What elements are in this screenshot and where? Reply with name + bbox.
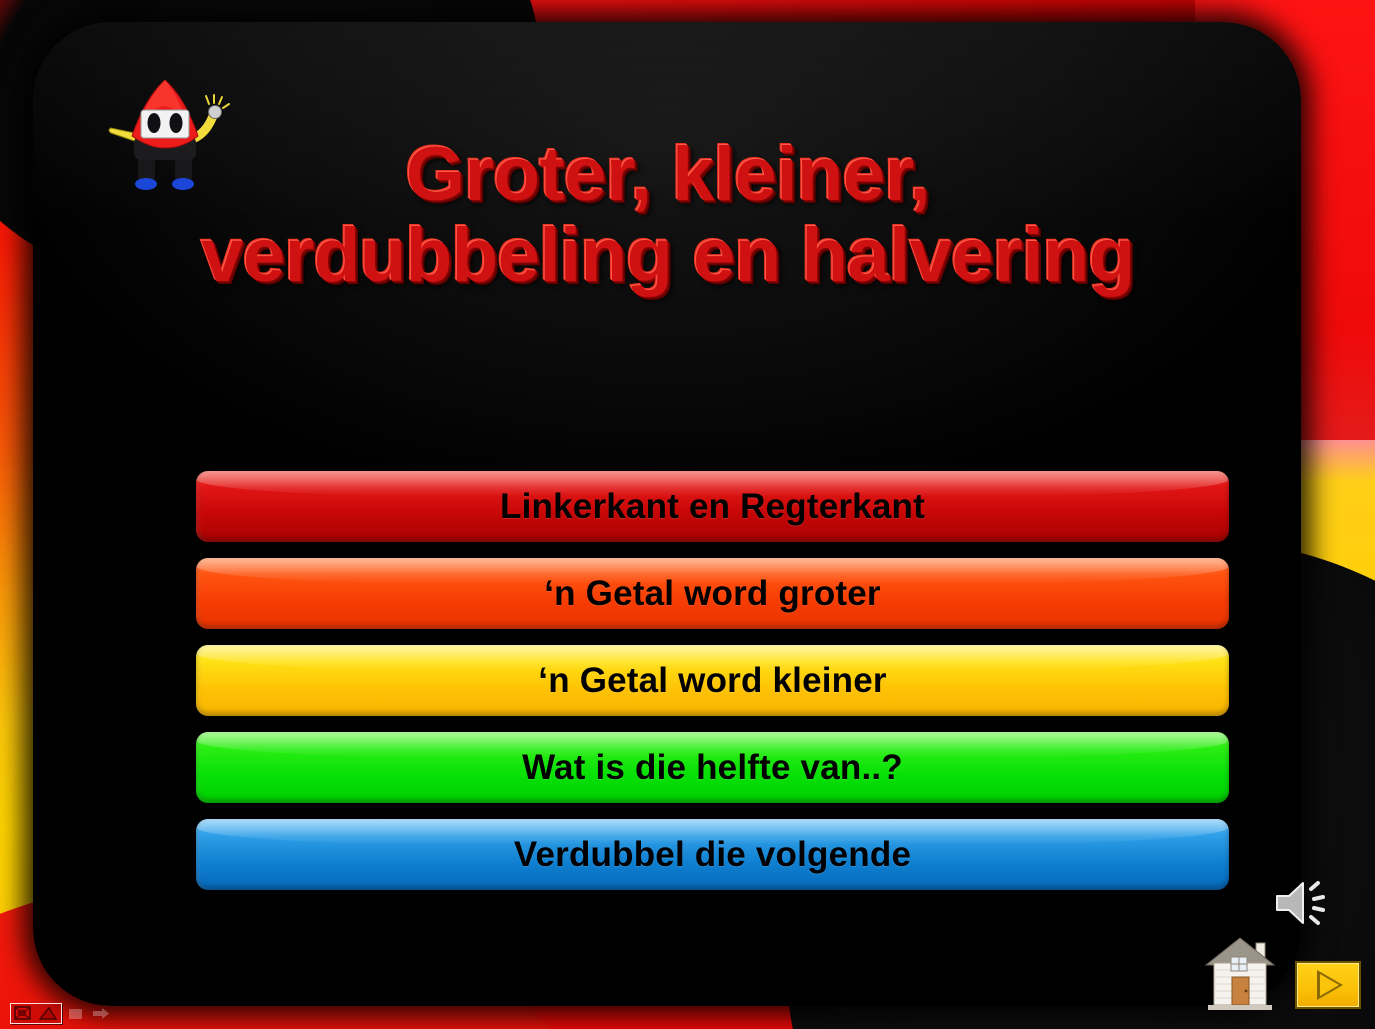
slide-root: Groter, kleiner, verdubbeling en halveri… (0, 0, 1375, 1029)
menu-button-label: Verdubbel die volgende (514, 835, 911, 875)
next-arrow-icon[interactable] (90, 1005, 112, 1022)
pen-annotation-icon[interactable] (37, 1005, 59, 1022)
menu-button-n-getal-word-groter[interactable]: ‘n Getal word groter (196, 558, 1229, 629)
page-title: Groter, kleiner, verdubbeling en halveri… (93, 134, 1243, 297)
house-icon[interactable] (1200, 929, 1280, 1011)
slideshow-view-icon[interactable] (13, 1005, 35, 1022)
menu-button-label: ‘n Getal word kleiner (538, 661, 886, 701)
menu-button-wat-is-die-helfte-van[interactable]: Wat is die helfte van..? (196, 732, 1229, 803)
menu-list: Linkerkant en Regterkant ‘n Getal word g… (196, 471, 1229, 906)
content-panel: Groter, kleiner, verdubbeling en halveri… (33, 22, 1301, 1006)
menu-button-linkerkant-en-regterkant[interactable]: Linkerkant en Regterkant (196, 471, 1229, 542)
menu-button-label: Wat is die helfte van..? (522, 748, 903, 788)
presentation-nav-group[interactable] (10, 1003, 62, 1024)
menu-button-label: ‘n Getal word groter (544, 574, 881, 614)
presentation-nav-bar (10, 1001, 112, 1025)
menu-button-verdubbel-die-volgende[interactable]: Verdubbel die volgende (196, 819, 1229, 890)
play-arrow-icon (1317, 970, 1343, 1000)
menu-button-n-getal-word-kleiner[interactable]: ‘n Getal word kleiner (196, 645, 1229, 716)
slide-menu-icon[interactable] (65, 1005, 87, 1022)
next-slide-button[interactable] (1295, 961, 1361, 1009)
speaker-icon[interactable] (1273, 877, 1335, 929)
menu-button-label: Linkerkant en Regterkant (500, 487, 925, 527)
